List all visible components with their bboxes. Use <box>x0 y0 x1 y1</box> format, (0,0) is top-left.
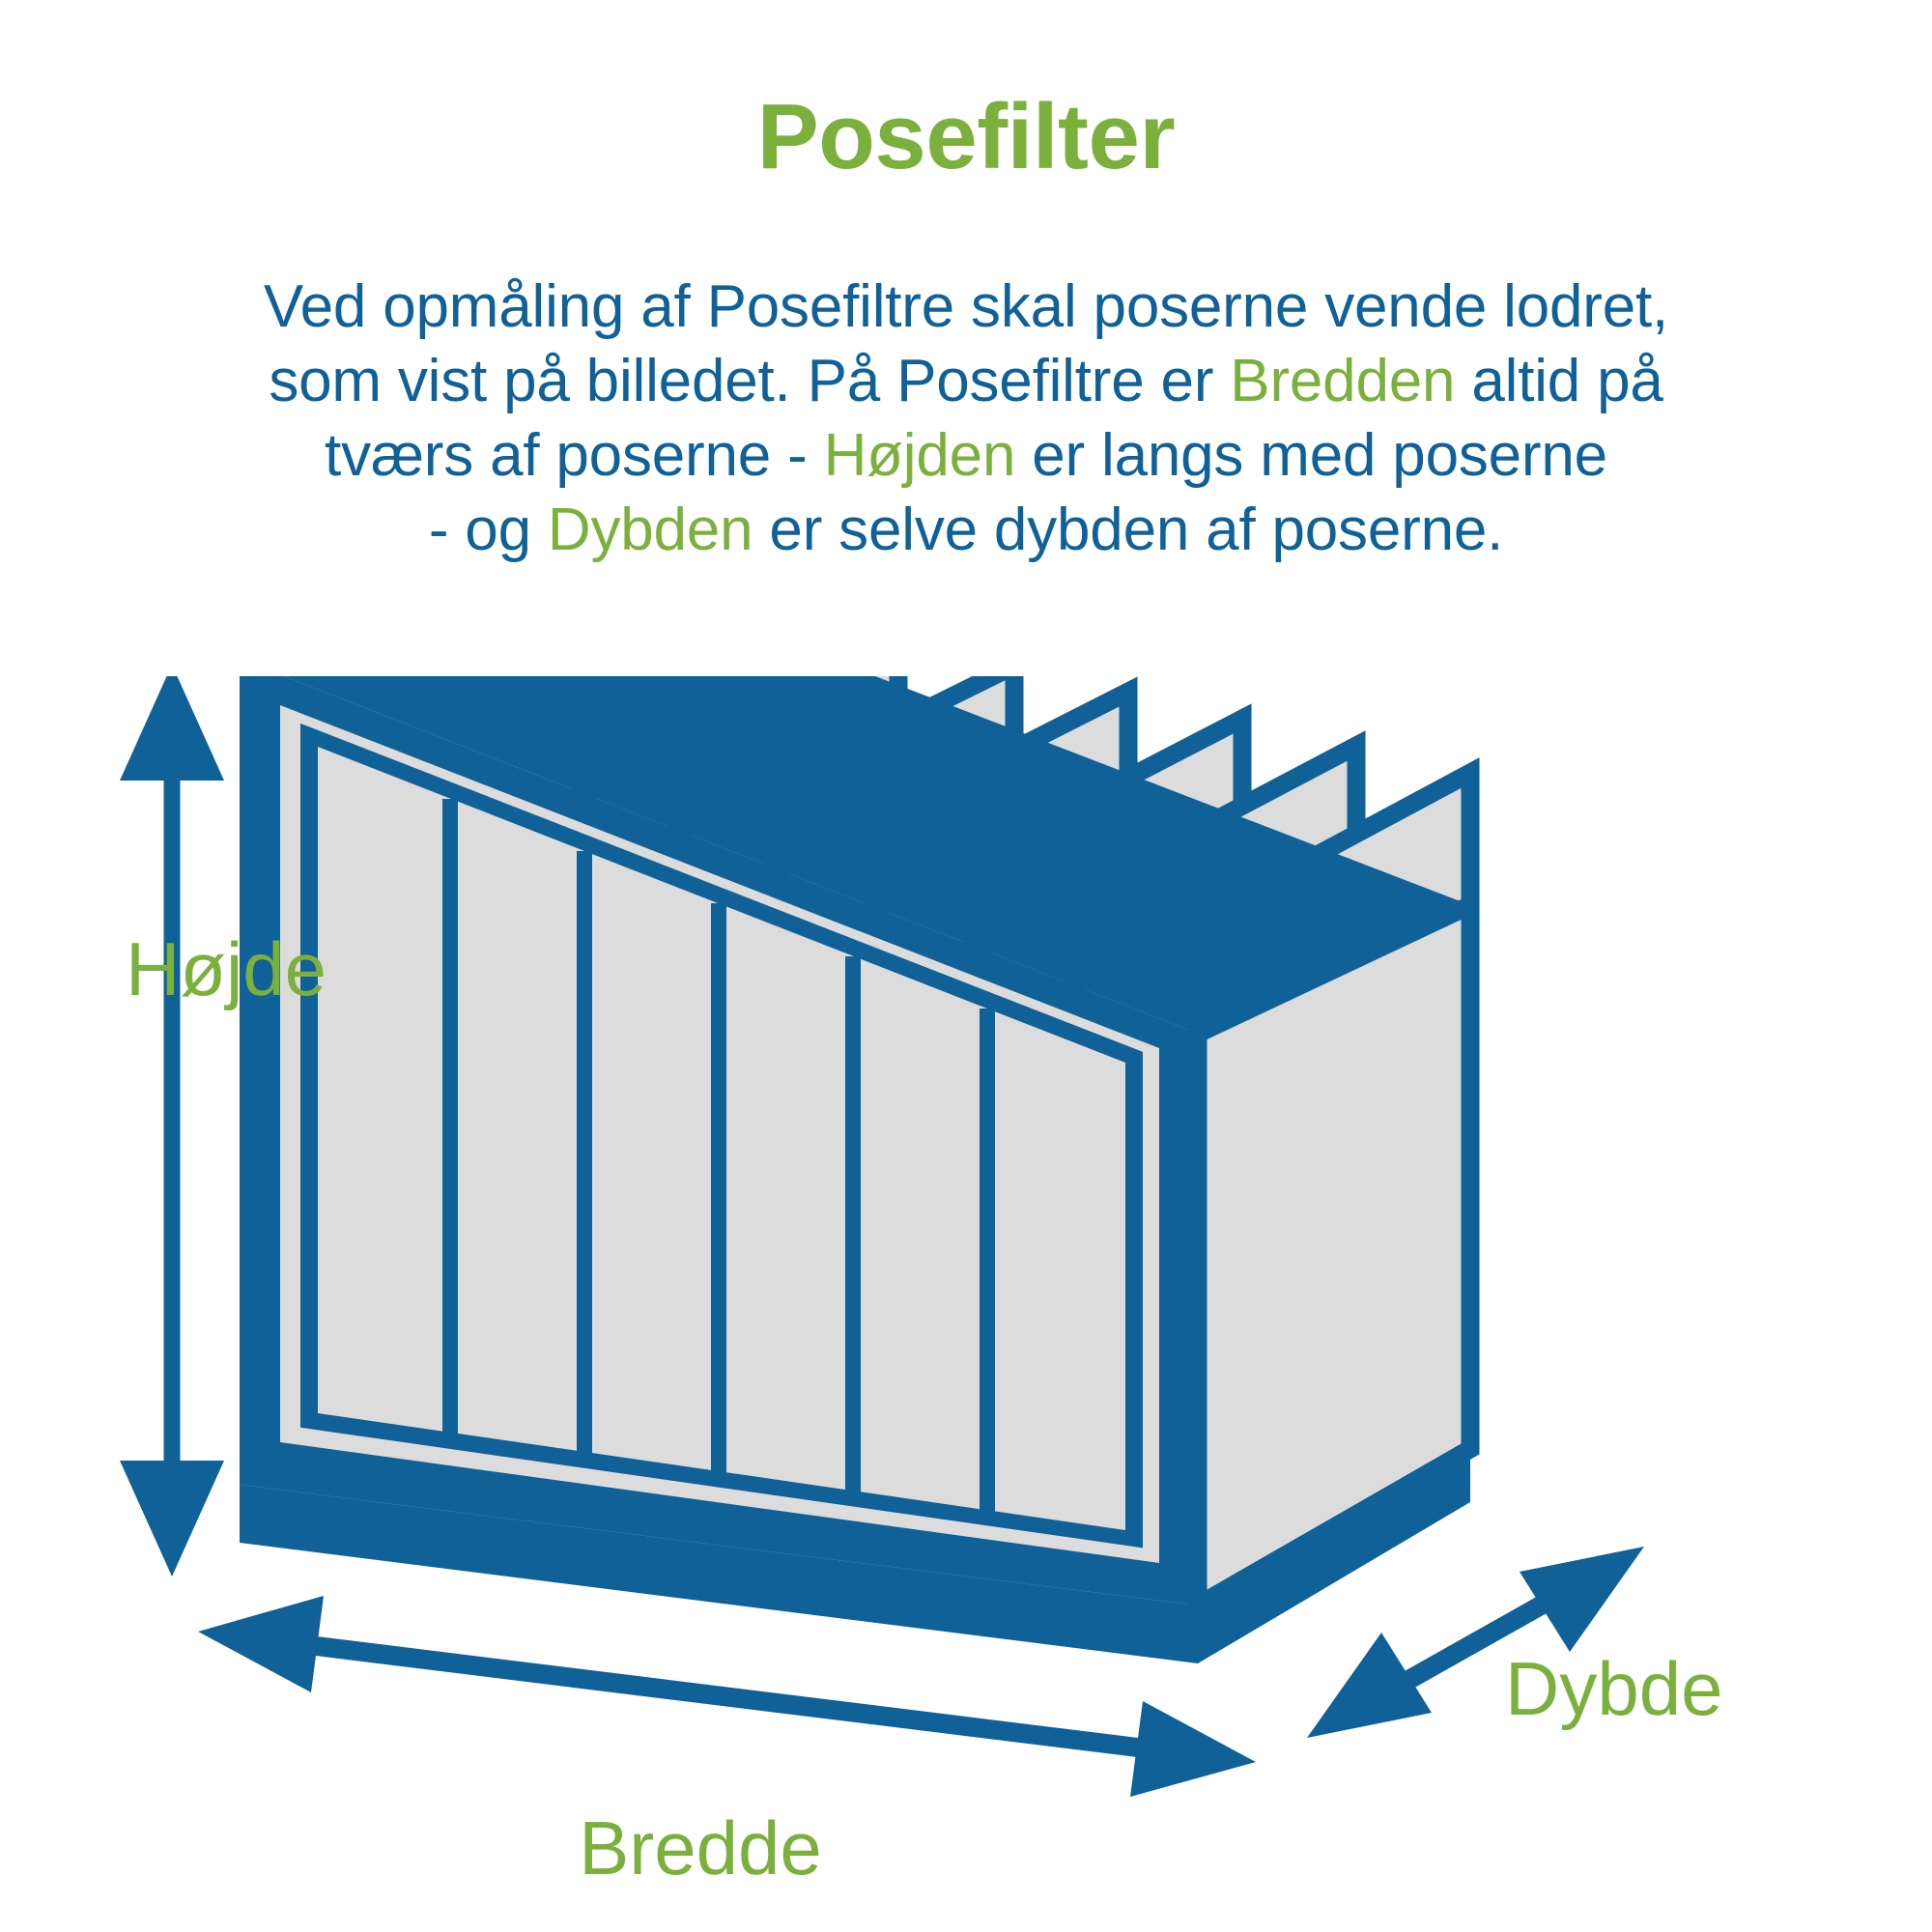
height-label: Højde <box>126 926 327 1011</box>
intro-line-3-pre: tværs af poserne - <box>325 422 824 489</box>
width-label: Bredde <box>579 1805 822 1890</box>
poster-root: Posefilter Ved opmåling af Posefiltre sk… <box>0 0 1932 1932</box>
intro-line-2-pre: som vist på billedet. På Posefiltre er <box>269 348 1230 414</box>
intro-line-2-post: altid på <box>1455 348 1662 414</box>
intro-paragraph: Ved opmåling af Posefiltre skal poserne … <box>87 270 1845 568</box>
intro-line-4-post: er selve dybden af poserne. <box>753 497 1503 563</box>
intro-highlight-bredden: Bredden <box>1230 348 1455 414</box>
height-dimension-arrow <box>120 676 224 1577</box>
page-title: Posefilter <box>0 89 1932 186</box>
bag-filter-diagram: Højde Bredde Dybde <box>0 676 1932 1932</box>
intro-line-4-pre: - og <box>429 497 548 563</box>
intro-line-1: Ved opmåling af Posefiltre skal poserne … <box>264 273 1668 340</box>
depth-label: Dybde <box>1505 1646 1722 1731</box>
intro-highlight-hojden: Højden <box>824 422 1016 489</box>
intro-highlight-dybden: Dybden <box>548 497 753 563</box>
intro-line-3-post: er langs med poserne <box>1015 422 1607 489</box>
